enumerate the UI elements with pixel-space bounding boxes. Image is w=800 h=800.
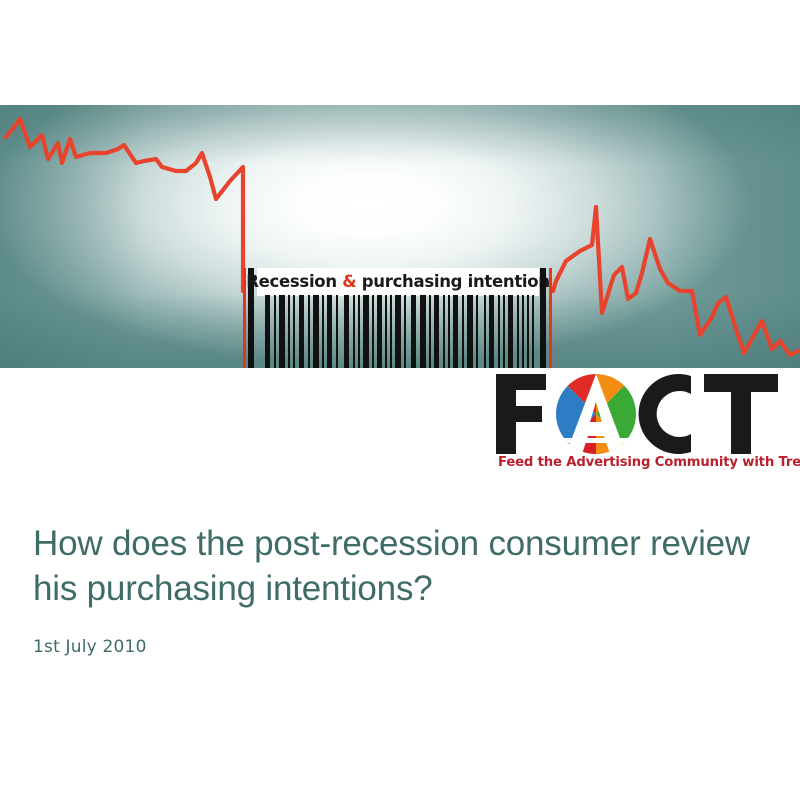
barcode-guard-black-right xyxy=(540,268,546,368)
page-title: How does the post-recession consumer rev… xyxy=(33,521,763,611)
barcode-label-text: Recession & purchasing intention xyxy=(246,274,550,291)
barcode-label-suffix: purchasing intention xyxy=(356,272,549,291)
fact-tagline: Feed the Advertising Community with Tren… xyxy=(498,456,790,469)
fact-logo: Feed the Advertising Community with Tren… xyxy=(490,368,790,480)
fact-wordmark xyxy=(490,368,790,460)
page-date: 1st July 2010 xyxy=(33,611,763,657)
barcode-bars xyxy=(265,295,537,368)
logo-letter-c xyxy=(639,374,691,454)
line-series-left xyxy=(6,119,243,291)
logo-letter-a-piechart xyxy=(556,368,636,460)
barcode-graphic: Recession & purchasing intention xyxy=(243,268,553,368)
barcode-label-ampersand: & xyxy=(342,272,356,291)
hero-banner: Recession & purchasing intention xyxy=(0,105,800,368)
logo-a-base-gap xyxy=(556,438,636,443)
barcode-guard-red-right xyxy=(549,268,552,368)
logo-letter-t xyxy=(704,374,778,454)
barcode-label-box: Recession & purchasing intention xyxy=(257,268,539,296)
barcode-label-prefix: Recession xyxy=(246,272,342,291)
title-block: How does the post-recession consumer rev… xyxy=(33,521,763,657)
logo-letter-f xyxy=(496,374,546,454)
line-series-right xyxy=(553,207,798,355)
